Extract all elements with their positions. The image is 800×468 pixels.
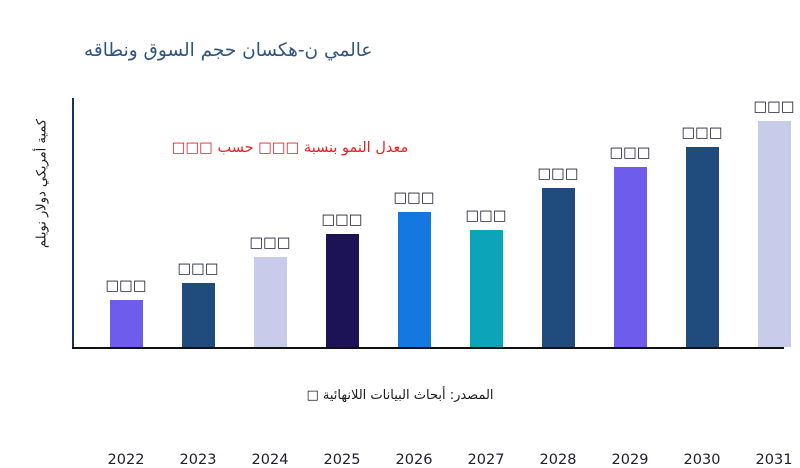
- x-tick-label-2024: 2024: [240, 452, 300, 468]
- source-note: المصدر: أبحاث البيانات اللانهائية □: [0, 388, 800, 403]
- bar-value-label: □□□: [600, 145, 660, 161]
- x-tick-label-2026: 2026: [384, 452, 444, 468]
- bar-2023[interactable]: [182, 283, 215, 347]
- bar-2027[interactable]: [470, 230, 503, 347]
- x-tick-label-2025: 2025: [312, 452, 372, 468]
- x-tick-label-2031: 2031: [744, 452, 800, 468]
- x-tick-label-2029: 2029: [600, 452, 660, 468]
- bar-2031[interactable]: [758, 121, 791, 347]
- bar-2024[interactable]: [254, 257, 287, 347]
- y-axis-line: [72, 98, 74, 348]
- bar-value-label: □□□: [312, 212, 372, 228]
- x-tick-label-2027: 2027: [456, 452, 516, 468]
- x-tick-label-2030: 2030: [672, 452, 732, 468]
- bar-value-label: □□□: [456, 208, 516, 224]
- bar-2026[interactable]: [398, 212, 431, 347]
- bar-value-label: □□□: [384, 190, 444, 206]
- chart-canvas: عالمي ن-هكسان حجم السوق ونطاقه كمية أمري…: [0, 0, 800, 450]
- cagr-annotation: معدل النمو بنسبة □□□ حسب □□□: [140, 140, 440, 156]
- bar-value-label: □□□: [744, 99, 800, 115]
- bar-value-label: □□□: [528, 166, 588, 182]
- plot-area: □□□2022□□□2023□□□2024□□□2025□□□2026□□□20…: [72, 98, 800, 348]
- page-title: عالمي ن-هكسان حجم السوق ونطاقه: [84, 40, 684, 61]
- x-tick-label-2028: 2028: [528, 452, 588, 468]
- bar-2030[interactable]: [686, 147, 719, 347]
- bar-2029[interactable]: [614, 167, 647, 347]
- bar-value-label: □□□: [240, 235, 300, 251]
- x-tick-label-2022: 2022: [96, 452, 156, 468]
- y-axis-title-container: كمية أمريكي دولار نويلم: [0, 60, 44, 310]
- bar-value-label: □□□: [96, 278, 156, 294]
- x-axis-line: [72, 347, 784, 349]
- bar-value-label: □□□: [672, 125, 732, 141]
- bar-2025[interactable]: [326, 234, 359, 347]
- x-tick-label-2023: 2023: [168, 452, 228, 468]
- bar-value-label: □□□: [168, 261, 228, 277]
- bar-2022[interactable]: [110, 300, 143, 347]
- bar-2028[interactable]: [542, 188, 575, 347]
- y-axis-title: كمية أمريكي دولار نويلم: [35, 54, 50, 314]
